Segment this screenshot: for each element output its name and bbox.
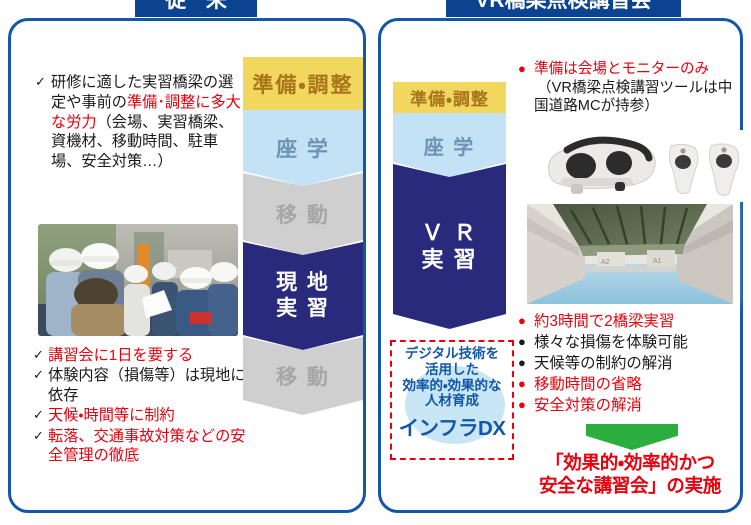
flow-step-preparation: 準備・調整 (393, 82, 506, 113)
list-item: ● 約3時間で2橋梁実習 (518, 312, 742, 332)
list-item: ✓ 天候・時間等に制約 (33, 406, 251, 425)
svg-text:A2: A2 (601, 259, 610, 266)
flow-step-onsite-training: 現 地 実 習 (243, 242, 363, 350)
list-item: ✓ 体験内容（損傷等）は現地に依存 (33, 366, 251, 405)
bullet-icon: ● (518, 312, 534, 330)
list-item-text: 移動時間の省略 (534, 375, 742, 395)
photo-onsite-training (38, 224, 238, 336)
conclusion-line-2: 安全な講習会」の実施 (539, 475, 721, 496)
photo-onsite-training-graphic (38, 224, 238, 336)
check-icon: ✓ (33, 366, 48, 384)
flow-step-lecture: 座 学 (243, 110, 363, 186)
list-item-text: 様々な損傷を体験可能 (534, 333, 742, 353)
flow-step-vr-line2: 実 習 (421, 247, 477, 274)
dx-line-4: 人材育成 (425, 393, 479, 408)
list-item: ● 安全対策の解消 (518, 396, 742, 416)
panel-title-vr: VR橋梁点検講習会 (446, 0, 681, 17)
dx-description: デジタル技術を 活用した 効率的・効果的な 人材育成 (402, 346, 501, 409)
flow-step-vr-training: Ｖ Ｒ 実 習 (393, 164, 506, 329)
conclusion-line-1: 「効果的・効率的かつ (545, 452, 715, 473)
vr-benefits-list: ● 約3時間で2橋梁実習 ● 様々な損傷を体験可能 ● 天候等の制約の解消 ● … (518, 312, 742, 417)
list-item-text: 天候・時間等に制約 (48, 406, 251, 425)
list-item-text: 約3時間で2橋梁実習 (534, 312, 742, 332)
dx-title: インフラDX (399, 411, 506, 441)
photo-vr-bridge-view: A2 A1 (527, 204, 733, 304)
photo-vr-equipment (531, 130, 743, 202)
list-item: ● 準備は会場とモニターのみ（VR橋梁点検講習ツールは中国道路MCが持参） (518, 60, 740, 116)
conclusion-text: 「効果的・効率的かつ 安全な講習会」の実施 (512, 452, 748, 498)
list-item-text: 安全対策の解消 (534, 396, 742, 416)
photo-vr-equipment-graphic (531, 130, 743, 202)
check-icon: ✓ (33, 427, 48, 445)
bullet-icon: ● (518, 354, 534, 372)
list-item: ✓ 転落、交通事故対策などの安全管理の徹底 (33, 427, 251, 466)
check-icon: ✓ (33, 346, 48, 364)
svg-text:A1: A1 (653, 258, 662, 265)
flow-step-preparation: 準備・調整 (243, 57, 363, 110)
list-item: ● 様々な損傷を体験可能 (518, 333, 742, 353)
vr-flow-diagram: 準備・調整 座 学 Ｖ Ｒ 実 習 (393, 82, 506, 329)
list-item-text: 転落、交通事故対策などの安全管理の徹底 (48, 427, 251, 466)
flow-step-onsite-line2: 実 習 (276, 296, 330, 322)
dx-line-3: 効率的・効果的な (402, 378, 501, 393)
flow-step-lecture: 座 学 (393, 113, 506, 177)
photo-vr-bridge-graphic: A2 A1 (527, 204, 733, 304)
bullet-icon: ● (518, 333, 534, 351)
note-sub: （VR橋梁点検講習ツールは中国道路MCが持参） (534, 80, 732, 115)
dx-line-1: デジタル技術を (405, 346, 499, 361)
flow-step-onsite-line1: 現 地 (276, 270, 330, 296)
conventional-top-list: ✓ 研修に適した実習橋梁の選定や事前の準備･調整に多大な労力（会場、実習橋梁、資… (35, 73, 247, 172)
list-item-text: 天候等の制約の解消 (534, 354, 742, 374)
bullet-icon: ● (518, 375, 534, 393)
list-item-text: 講習会に1日を要する (48, 346, 251, 365)
conventional-flow-diagram: 準備・調整 座 学 移 動 現 地 実 習 移 動 (243, 57, 363, 415)
infrastructure-dx-box: デジタル技術を 活用した 効率的・効果的な 人材育成 インフラDX (390, 340, 514, 460)
bullet-icon: ● (518, 396, 534, 414)
infographic-root: ✓ 研修に適した実習橋梁の選定や事前の準備･調整に多大な労力（会場、実習橋梁、資… (0, 0, 751, 525)
list-item-text: 体験内容（損傷等）は現地に依存 (48, 366, 251, 405)
list-item-text: 準備は会場とモニターのみ（VR橋梁点検講習ツールは中国道路MCが持参） (534, 60, 740, 116)
vr-preparation-note: ● 準備は会場とモニターのみ（VR橋梁点検講習ツールは中国道路MCが持参） (518, 60, 740, 116)
list-item: ✓ 講習会に1日を要する (33, 346, 251, 365)
flow-step-vr-line1: Ｖ Ｒ (421, 220, 477, 247)
panel-title-conventional: 従 来 (135, 0, 257, 17)
dx-line-2: 活用した (425, 362, 479, 377)
list-item: ✓ 研修に適した実習橋梁の選定や事前の準備･調整に多大な労力（会場、実習橋梁、資… (35, 73, 247, 172)
bullet-icon: ● (518, 60, 534, 78)
list-item: ● 天候等の制約の解消 (518, 354, 742, 374)
check-icon: ✓ (35, 73, 51, 91)
list-item-text: 研修に適した実習橋梁の選定や事前の準備･調整に多大な労力（会場、実習橋梁、資機材… (51, 73, 247, 172)
check-icon: ✓ (33, 406, 48, 424)
list-item: ● 移動時間の省略 (518, 375, 742, 395)
conventional-bottom-list: ✓ 講習会に1日を要する ✓ 体験内容（損傷等）は現地に依存 ✓ 天候・時間等に… (33, 346, 251, 467)
note-headline: 準備は会場とモニターのみ (534, 61, 709, 77)
